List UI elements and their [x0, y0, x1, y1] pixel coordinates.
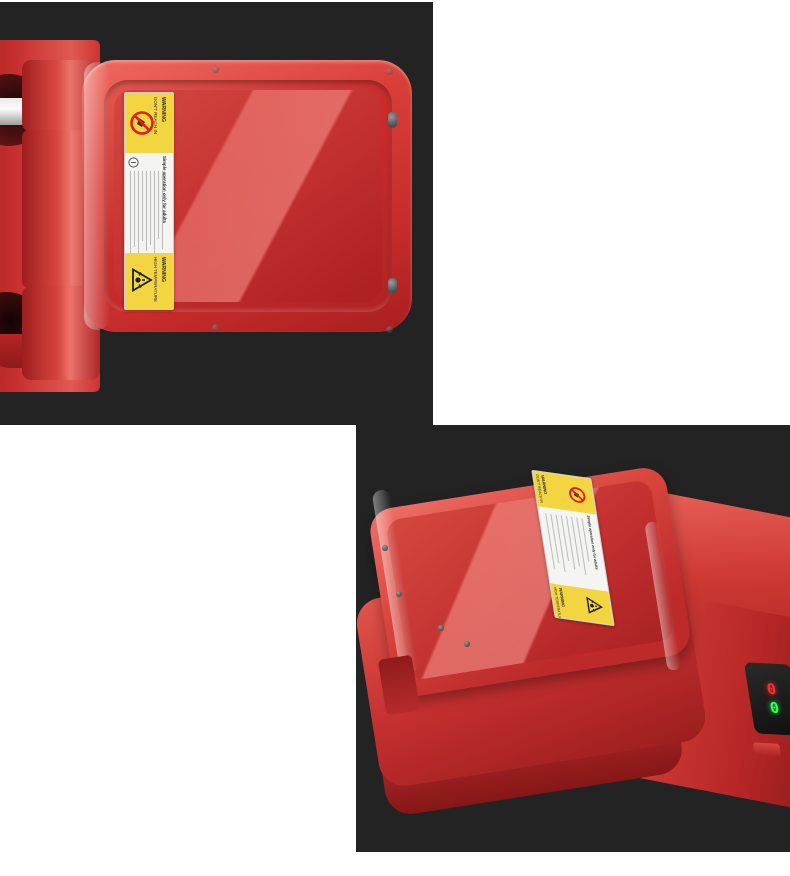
display-digit-bottom: 0 [769, 701, 781, 716]
base-screw-4 [464, 641, 470, 647]
machine-3d-view: WARNING DON'T REACH IN Simple operation … [356, 425, 790, 852]
base-screw-1 [382, 545, 388, 551]
hot-surface-icon [131, 268, 153, 292]
product-feature-collage: WARNING DON'T REACH IN Simple operation … [0, 0, 790, 876]
lid-screw-top-left [212, 66, 219, 73]
open-hopper-product-photo: WARNING DON'T REACH IN Simple operation … [0, 2, 433, 425]
warning-high-temp-title: WARNING [160, 257, 166, 282]
warning-high-temp-text: HIGH TEMPERATURE [153, 257, 158, 302]
inductive-switch-product-photo: WARNING DON'T REACH IN Simple operation … [356, 425, 790, 852]
inductive-switch-text-panel: Inductive switch Protect users Safe oil … [0, 428, 356, 876]
warning-no-reach-title: WARNING [160, 97, 166, 122]
no-hand-icon [129, 110, 155, 136]
base-screw-2 [396, 591, 402, 597]
power-button[interactable] [753, 742, 782, 756]
lid-screw-top-right [386, 68, 393, 75]
safety-warning-label: WARNING DON'T REACH IN Simple operation … [124, 92, 174, 310]
hot-surface-icon [585, 597, 604, 616]
lid-bumper-lower [388, 278, 397, 294]
lid-screw-bottom-left [212, 324, 219, 331]
notice-icon [128, 157, 139, 168]
warning-label-instructions: Simple operation only for adults [125, 153, 173, 253]
open-hopper-text-panel: Open hopper Convenient for feeding and o… [433, 0, 790, 425]
display-digit-top: 0 [766, 682, 778, 697]
lid-bumper-upper [388, 112, 397, 128]
lid-screw-bottom-right [386, 326, 393, 333]
warning-no-reach-text: DON'T REACH IN [153, 97, 158, 134]
base-screw-3 [438, 625, 444, 631]
warning-high-temperature-section: WARNING HIGH TEMPERATURE [125, 253, 173, 309]
warning-label-instructions: Simple operation only for adults [538, 506, 608, 591]
warning-no-reach-section: WARNING DON'T REACH IN [125, 93, 173, 153]
no-hand-icon [567, 485, 587, 504]
